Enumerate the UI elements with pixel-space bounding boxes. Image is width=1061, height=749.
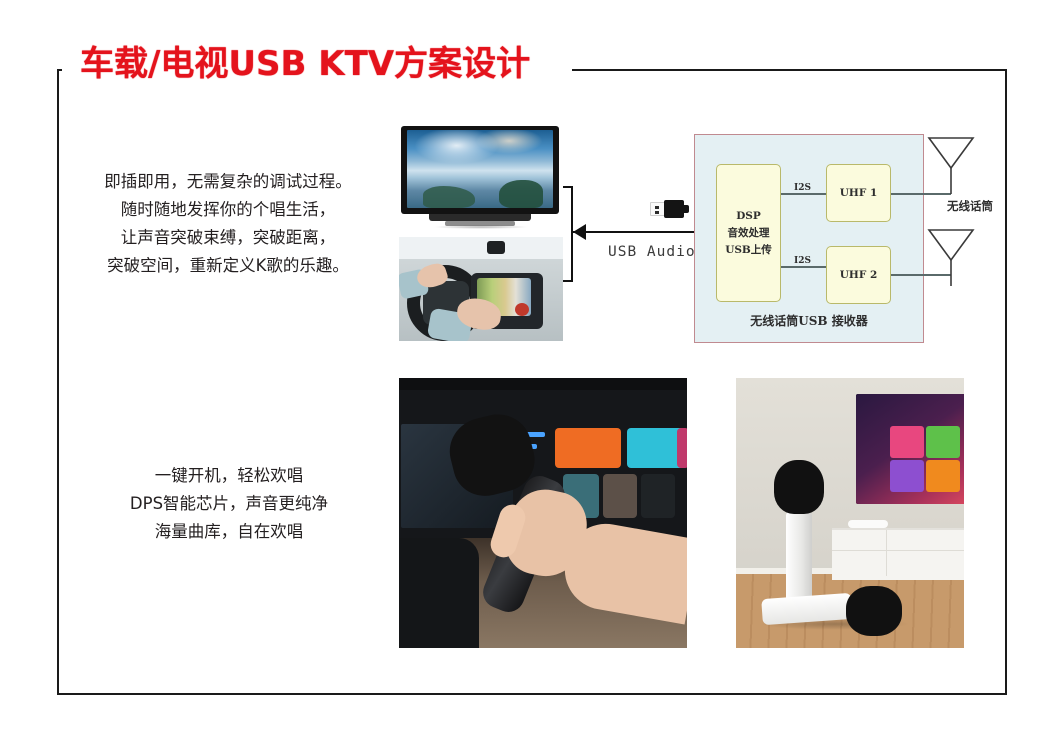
uhf1-label: UHF 1 bbox=[840, 185, 878, 202]
tv-app-tile-purple bbox=[890, 460, 924, 492]
dsp-block: DSP 音效处理 USB上传 bbox=[716, 164, 781, 302]
usb-tip bbox=[650, 202, 665, 216]
page-title: 车载/电视USB KTV方案设计 bbox=[80, 42, 530, 86]
standing-microphone-foam-head bbox=[774, 460, 824, 514]
tv-app-tile-green bbox=[926, 426, 960, 458]
antenna-1-glyph bbox=[925, 134, 977, 196]
usb-plug-body bbox=[664, 200, 684, 218]
cabinet-seam-horizontal bbox=[832, 550, 964, 551]
wire-dsp-to-uhf1 bbox=[781, 193, 826, 195]
ktv-tile-pink bbox=[677, 428, 687, 468]
slide-canvas: 车载/电视USB KTV方案设计 即插即用，无需复杂的调试过程。 随时随地发挥你… bbox=[0, 0, 1061, 749]
tv-app-tile-pink bbox=[890, 426, 924, 458]
feature-line-1: 一键开机，轻松欢唱 bbox=[84, 462, 374, 490]
wire-dsp-to-uhf2 bbox=[781, 266, 826, 268]
receiver-caption: 无线话筒USB 接收器 bbox=[694, 312, 924, 329]
bracket-line-to-car bbox=[563, 280, 573, 282]
bracket-line-to-tv bbox=[563, 186, 573, 188]
wireless-microphone-label: 无线话筒 bbox=[947, 198, 993, 214]
features-paragraph: 一键开机，轻松欢唱 DPS智能芯片，声音更纯净 海量曲库，自在欢唱 bbox=[84, 462, 374, 546]
remote-control bbox=[848, 520, 888, 528]
usb-audio-label: USB Audio bbox=[608, 244, 696, 260]
usb-connector-icon bbox=[650, 198, 686, 220]
tv-screen-shore bbox=[423, 186, 475, 208]
car-windshield bbox=[399, 237, 563, 259]
ktv-tile-album-2 bbox=[603, 474, 637, 518]
antenna-1-icon bbox=[925, 134, 977, 196]
usb-cable-tail bbox=[683, 205, 689, 213]
uhf1-block: UHF 1 bbox=[826, 164, 891, 222]
feature-line-2: DPS智能芯片，声音更纯净 bbox=[84, 490, 374, 518]
tv-shadow bbox=[433, 225, 529, 229]
tv-lower-bezel bbox=[429, 214, 531, 221]
dsp-line-2: 音效处理 bbox=[728, 225, 770, 242]
i2s-label-2: I2S bbox=[794, 256, 811, 266]
microphone-in-car-photo bbox=[399, 378, 687, 648]
uhf2-block: UHF 2 bbox=[826, 246, 891, 304]
tv-screen-landscape bbox=[407, 130, 553, 208]
car-rearview-mirror bbox=[487, 241, 505, 254]
car-interior-photo bbox=[399, 237, 563, 341]
intro-line-4: 突破空间，重新定义K歌的乐趣。 bbox=[78, 252, 378, 280]
feature-line-3: 海量曲库，自在欢唱 bbox=[84, 518, 374, 546]
usb-pin-1 bbox=[655, 206, 659, 209]
arrow-left-icon bbox=[573, 224, 586, 240]
antenna-2-icon bbox=[925, 226, 977, 288]
usb-audio-line bbox=[573, 231, 694, 233]
ktv-tile-orange bbox=[555, 428, 621, 468]
intro-line-1: 即插即用，无需复杂的调试过程。 bbox=[78, 168, 378, 196]
intro-paragraph: 即插即用，无需复杂的调试过程。 随时随地发挥你的个唱生活， 让声音突破束缚，突破… bbox=[78, 168, 378, 280]
intro-line-2: 随时随地发挥你的个唱生活， bbox=[78, 196, 378, 224]
i2s-label-1: I2S bbox=[794, 183, 811, 193]
tv-bezel bbox=[401, 126, 559, 214]
uhf2-label: UHF 2 bbox=[840, 267, 878, 284]
car-display-record-button bbox=[515, 303, 529, 316]
tv-screen-island bbox=[499, 180, 543, 208]
tv-app-tile-orange bbox=[926, 460, 960, 492]
antenna-2-glyph bbox=[925, 226, 977, 288]
living-room-photo bbox=[736, 378, 964, 648]
dsp-line-3: USB上传 bbox=[725, 242, 772, 259]
car-dash-dark-trim bbox=[399, 538, 479, 648]
cabinet-seam-vertical bbox=[886, 530, 887, 576]
tv-cabinet bbox=[832, 528, 964, 580]
wall-tv bbox=[856, 394, 964, 504]
dsp-line-1: DSP bbox=[736, 208, 761, 225]
intro-line-3: 让声音突破束缚，突破距离， bbox=[78, 224, 378, 252]
tv-photo bbox=[399, 126, 563, 232]
lying-microphone-foam-head bbox=[846, 586, 902, 636]
receiver-block-diagram: DSP 音效处理 USB上传 UHF 1 UHF 2 I2S I2S 无线话筒U… bbox=[694, 134, 924, 343]
usb-pin-2 bbox=[655, 211, 659, 214]
ktv-tile-album-3 bbox=[641, 474, 675, 518]
